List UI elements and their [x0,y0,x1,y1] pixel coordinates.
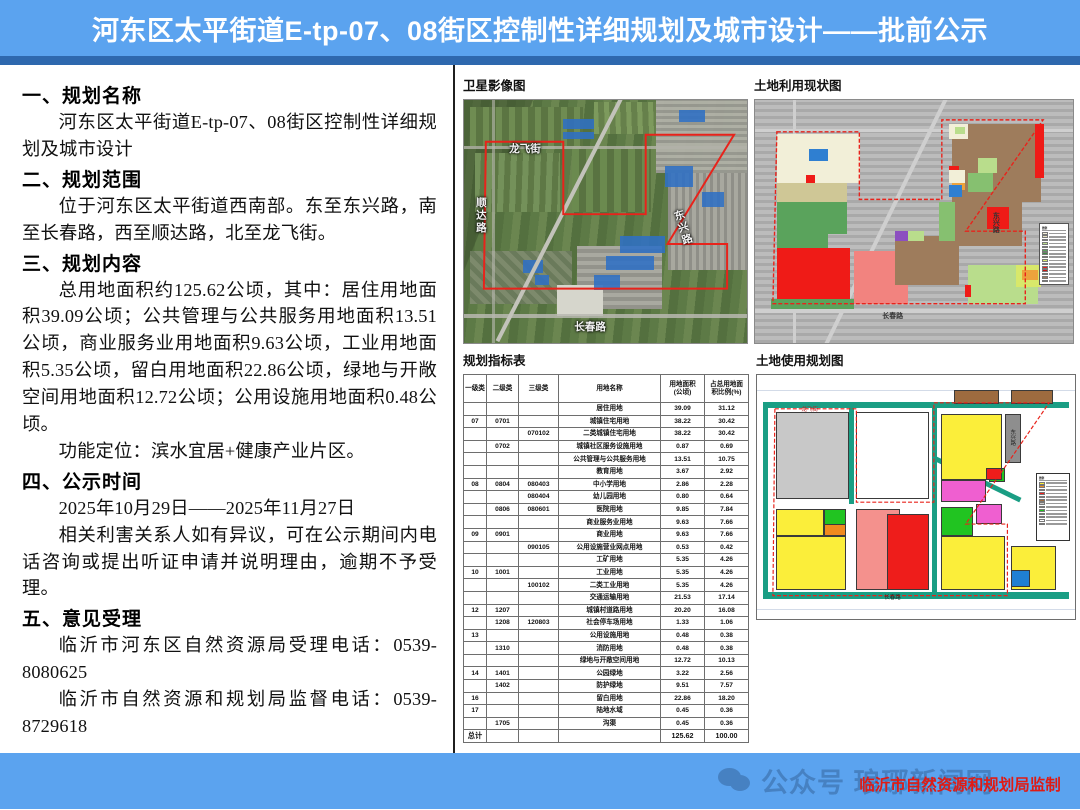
road-label-changchun: 长春路 [884,593,901,601]
cell-landuse-name: 商业用地 [559,528,661,541]
cell-percent: 2.56 [705,667,749,680]
cell-level3 [519,528,559,541]
cell-area: 39.09 [661,403,705,416]
table-row: 141401公园绿地3.222.56 [464,667,749,680]
legend-label [1046,513,1067,515]
cell-level2 [487,453,519,466]
road-label-changchun: 长春路 [882,311,903,321]
legend-label [1049,236,1066,238]
section-body-content: 总用地面积约125.62公顷，其中：居住用地面积39.09公顷；公共管理与公共服… [22,277,437,438]
indicator-table-wrap: 一级类 二级类 三级类 用地名称 用地面积 (公顷) 占总用地面 [463,374,750,743]
cell-level2 [487,491,519,504]
cell-level2 [487,692,519,705]
cell-percent: 4.26 [705,554,749,567]
legend-label [1049,266,1066,268]
legend-label [1046,523,1067,525]
cell-level3: 080404 [519,491,559,504]
legend-swatch [1039,489,1045,492]
table-row: 090901商业用地9.637.66 [464,528,749,541]
table-body: 居住用地39.0931.12070701城镇住宅用地38.2230.420701… [464,403,749,743]
cell-level2: 0702 [487,440,519,453]
legend-label [1046,520,1067,522]
legend-label [1046,510,1067,512]
legend-label [1049,243,1066,245]
legend-swatch [1039,509,1045,512]
cell-area: 0.87 [661,440,705,453]
legend-swatch [1042,273,1048,276]
landuse-legend: 图例 [1039,223,1069,285]
page-title: 河东区太平街道E-tp-07、08街区控制性详细规划及城市设计——批前公示 [92,9,988,48]
legend-swatch [1042,269,1048,272]
road-label-longfei: 龙飞街 [802,405,819,413]
cell-percent: 10.13 [705,654,749,667]
legend-swatch [1042,239,1048,242]
legend-title: 图例 [1039,476,1067,481]
cell-level3: 120803 [519,617,559,630]
cell-level3: 090105 [519,541,559,554]
cell-level2: 1705 [487,717,519,730]
legend-label [1046,506,1067,508]
cell-area: 5.35 [661,554,705,567]
cell-area: 9.85 [661,503,705,516]
cell-percent: 0.36 [705,717,749,730]
cell-percent: 18.20 [705,692,749,705]
cell-landuse-name: 沟渠 [559,717,661,730]
legend-label [1049,277,1066,279]
cell-level1 [464,554,487,567]
col-header-percent-line2: 积比例(%) [711,389,741,396]
indicator-table-panel: 规划指标表 一级类 二级类 三级类 用地名称 用地面积 (公顷) [463,350,750,743]
cell-percent: 0.64 [705,491,749,504]
cell-level1: 13 [464,629,487,642]
legend-label [1049,260,1066,262]
cell-level2: 0804 [487,478,519,491]
legend-label [1049,239,1066,241]
cell-level2: 0701 [487,415,519,428]
section-heading-name: 一、规划名称 [22,81,437,108]
section-heading-scope: 二、规划范围 [22,165,437,192]
road-label-changchun: 长春路 [574,319,606,334]
cell-landuse-name: 居住用地 [559,403,661,416]
cell-percent: 2.28 [705,478,749,491]
cell-area: 20.20 [661,604,705,617]
cell-level3 [519,403,559,416]
cell-landuse-name: 留白用地 [559,692,661,705]
cell-level2: 1207 [487,604,519,617]
cell-landuse-name: 城镇社区服务设施用地 [559,440,661,453]
cell-level3 [519,516,559,529]
legend-swatch [1042,280,1048,283]
cell-area: 22.86 [661,692,705,705]
table-row: 1402防护绿地9.517.57 [464,680,749,693]
cell-level2 [487,541,519,554]
cell-landuse-name: 绿地与开敞空间用地 [559,654,661,667]
table-row: 公共管理与公共服务用地13.5110.75 [464,453,749,466]
cell-percent: 7.84 [705,503,749,516]
cell-level1 [464,440,487,453]
cell-area: 38.22 [661,428,705,441]
cell-percent: 0.36 [705,705,749,718]
legend-swatch [1039,516,1045,519]
cell-level1 [464,717,487,730]
cell-landuse-name: 城镇住宅用地 [559,415,661,428]
table-head: 一级类 二级类 三级类 用地名称 用地面积 (公顷) 占总用地面 [464,375,749,403]
cell-area: 0.53 [661,541,705,554]
section-body-period-notice: 相关利害关系人如有异议，可在公示期间内电话咨询或提出听证申请并说明理由，逾期不予… [22,522,437,603]
legend-label [1046,499,1067,501]
cell-level2 [487,465,519,478]
cell-level3 [519,604,559,617]
legend-label [1049,246,1066,248]
cell-level1 [464,516,487,529]
legend-swatch [1042,259,1048,262]
cell-area: 1.33 [661,617,705,630]
wechat-icon [718,768,752,794]
cell-level3 [519,453,559,466]
cell-level1 [464,491,487,504]
cell-area: 0.45 [661,705,705,718]
cell-level1 [464,541,487,554]
legend-label [1049,263,1066,265]
cell-landuse-name [559,730,661,743]
legend-swatch [1042,242,1048,245]
cell-level1 [464,465,487,478]
cell-area: 3.22 [661,667,705,680]
legend-label [1049,280,1066,282]
cell-level2 [487,629,519,642]
legend-title: 图例 [1042,226,1066,231]
col-header-level2: 二级类 [487,375,519,403]
legend-label [1046,493,1067,495]
cell-landuse-name: 公用设施用地 [559,629,661,642]
cell-area: 0.45 [661,717,705,730]
cell-level3 [519,591,559,604]
legend-swatch [1042,276,1048,279]
cell-level3 [519,566,559,579]
satellite-panel-title: 卫星影像图 [463,75,748,94]
table-row: 1310消防用地0.480.38 [464,642,749,655]
cell-level2 [487,705,519,718]
satellite-image-map[interactable]: 龙飞街 顺达路 东兴路 长春路 [463,99,748,344]
cell-percent: 30.42 [705,415,749,428]
cell-percent: 17.14 [705,591,749,604]
cell-landuse-name: 商业服务业用地 [559,516,661,529]
legend-swatch [1039,519,1045,522]
cell-level2: 1310 [487,642,519,655]
cell-level1: 08 [464,478,487,491]
cell-level3: 080403 [519,478,559,491]
cell-level1: 14 [464,667,487,680]
cell-level1 [464,453,487,466]
cell-level3: 070102 [519,428,559,441]
cell-level1 [464,642,487,655]
cell-landuse-name: 中小学用地 [559,478,661,491]
table-row: 教育用地3.672.92 [464,465,749,478]
cell-landuse-name: 防护绿地 [559,680,661,693]
cell-level3 [519,654,559,667]
indicator-table: 一级类 二级类 三级类 用地名称 用地面积 (公顷) 占总用地面 [463,374,749,743]
table-header-row: 一级类 二级类 三级类 用地名称 用地面积 (公顷) 占总用地面 [464,375,749,403]
cell-level3 [519,554,559,567]
cell-level1: 09 [464,528,487,541]
legend-swatch [1042,266,1048,269]
page-footer: 公众号 琅琊新闻网 临沂市自然资源和规划局监制 [0,753,1080,809]
cell-percent: 4.26 [705,579,749,592]
table-row: 居住用地39.0931.12 [464,403,749,416]
legend-swatch [1039,499,1045,502]
landuse-panel: 土地利用现状图 [754,75,1074,344]
landuse-current-map[interactable]: 图例 [754,99,1074,344]
legend-label [1049,253,1066,255]
col-header-percent: 占总用地面 积比例(%) [705,375,749,403]
plan-map-panel: 土地使用规划图 [756,350,1076,743]
section-body-feedback-phone2: 临沂市自然资源和规划局监督电话：0539-8729618 [22,686,437,740]
chat-bubble-small [730,775,750,791]
cell-level1 [464,403,487,416]
cell-landuse-name: 社会停车场用地 [559,617,661,630]
section-body-positioning: 功能定位：滨水宜居+健康产业片区。 [22,438,437,465]
cell-area: 38.22 [661,415,705,428]
road-label-shunda: 顺达路 [474,197,489,235]
cell-percent: 4.26 [705,566,749,579]
landuse-panel-title: 土地利用现状图 [754,75,1074,94]
cell-level3 [519,680,559,693]
cell-area: 12.72 [661,654,705,667]
cell-level2 [487,591,519,604]
cell-percent: 31.12 [705,403,749,416]
col-header-level1: 一级类 [464,375,487,403]
col-header-area: 用地面积 (公顷) [661,375,705,403]
table-row: 1705沟渠0.450.36 [464,717,749,730]
legend-swatch [1039,496,1045,499]
legend-label [1049,273,1066,275]
plan-legend: 图例 [1036,473,1070,541]
cell-level3 [519,730,559,743]
table-row: 16留白用地22.8618.20 [464,692,749,705]
section-heading-feedback: 五、意见受理 [22,604,437,631]
cell-level2 [487,516,519,529]
cell-area: 0.48 [661,629,705,642]
plan-map-title: 土地使用规划图 [756,350,1076,369]
cell-level1: 12 [464,604,487,617]
cell-landuse-name: 教育用地 [559,465,661,478]
cell-level2: 1208 [487,617,519,630]
cell-landuse-name: 陆地水域 [559,705,661,718]
cell-level2: 0901 [487,528,519,541]
cell-area: 3.67 [661,465,705,478]
cell-level3 [519,629,559,642]
legend-swatch [1042,235,1048,238]
table-row: 090105公用设施营业网点用地0.530.42 [464,541,749,554]
legend-label [1049,256,1066,258]
legend-swatch [1039,523,1045,526]
maps-top-row: 卫星影像图 [463,75,1070,344]
cell-landuse-name: 幼儿园用地 [559,491,661,504]
cell-level2: 1401 [487,667,519,680]
table-row: 交通运输用地21.5317.14 [464,591,749,604]
cell-landuse-name: 城镇村道路用地 [559,604,661,617]
cell-level3: 080601 [519,503,559,516]
section-body-scope: 位于河东区太平街道西南部。东至东兴路，南至长春路，西至顺达路，北至龙飞街。 [22,193,437,247]
cell-area: 9.63 [661,516,705,529]
table-row: 商业服务业用地9.637.66 [464,516,749,529]
cell-level1: 总计 [464,730,487,743]
planning-boundary-outline [464,100,747,343]
cell-level2: 1001 [487,566,519,579]
landuse-planning-map[interactable]: 图例 龙飞街 [756,374,1076,620]
legend-label [1049,233,1066,235]
legend-swatch [1039,492,1045,495]
table-row: 13公用设施用地0.480.38 [464,629,749,642]
legend-swatch [1042,252,1048,255]
cell-level1 [464,591,487,604]
cell-landuse-name: 医院用地 [559,503,661,516]
cell-level2 [487,403,519,416]
legend-label [1046,516,1067,518]
cell-area: 2.86 [661,478,705,491]
cell-level2 [487,654,519,667]
cell-level2: 0806 [487,503,519,516]
cell-level1 [464,579,487,592]
cell-landuse-name: 公用设施营业网点用地 [559,541,661,554]
cell-percent: 10.75 [705,453,749,466]
table-row: 080404幼儿园用地0.800.64 [464,491,749,504]
legend-swatch [1039,506,1045,509]
legend-label [1049,250,1066,252]
table-row: 绿地与开敞空间用地12.7210.13 [464,654,749,667]
cell-percent: 7.66 [705,516,749,529]
legend-swatch [1039,513,1045,516]
legend-item [1042,279,1066,282]
table-row: 17陆地水域0.450.36 [464,705,749,718]
cell-percent: 16.08 [705,604,749,617]
section-body-name: 河东区太平街道E-tp-07、08街区控制性详细规划及城市设计 [22,109,437,163]
cell-landuse-name: 工业用地 [559,566,661,579]
legend-label [1046,503,1067,505]
table-row: 0806080601医院用地9.857.84 [464,503,749,516]
section-heading-content: 三、规划内容 [22,249,437,276]
col-header-landuse-name: 用地名称 [559,375,661,403]
col-header-level3: 三级类 [519,375,559,403]
cell-level1: 10 [464,566,487,579]
legend-swatch [1042,246,1048,249]
page-header: 河东区太平街道E-tp-07、08街区控制性详细规划及城市设计——批前公示 [0,0,1080,56]
cell-area: 9.63 [661,528,705,541]
cell-level1 [464,654,487,667]
cell-percent: 7.57 [705,680,749,693]
col-header-percent-line1: 占总用地面 [710,381,743,388]
cell-level2: 1402 [487,680,519,693]
cell-area: 9.51 [661,680,705,693]
table-row: 070102二类城镇住宅用地38.2230.42 [464,428,749,441]
cell-area: 5.35 [661,579,705,592]
legend-label [1046,489,1067,491]
legend-label [1049,270,1066,272]
legend-label [1046,496,1067,498]
cell-area: 125.62 [661,730,705,743]
cell-level2 [487,554,519,567]
table-row: 0702城镇社区服务设施用地0.870.69 [464,440,749,453]
cell-percent: 2.92 [705,465,749,478]
legend-swatch [1042,256,1048,259]
cell-percent: 0.38 [705,642,749,655]
cell-percent: 30.42 [705,428,749,441]
footer-notice: 临沂市自然资源和规划局监制 [859,773,1061,795]
road-label-dongxing: 东兴路 [1008,429,1016,446]
cell-area: 0.80 [661,491,705,504]
satellite-panel: 卫星影像图 [463,75,748,344]
cell-level1: 07 [464,415,487,428]
cell-level2 [487,428,519,441]
road-label-longfei: 龙飞街 [509,141,541,156]
cell-percent: 7.66 [705,528,749,541]
table-row: 工矿用地5.354.26 [464,554,749,567]
section-body-period-dates: 2025年10月29日——2025年11月27日 [22,495,437,522]
cell-percent: 0.42 [705,541,749,554]
cell-area: 13.51 [661,453,705,466]
cell-percent: 0.38 [705,629,749,642]
header-accent-bar [0,56,1080,65]
cell-level3 [519,692,559,705]
cell-landuse-name: 二类工业用地 [559,579,661,592]
indicator-table-title: 规划指标表 [463,350,750,369]
cell-level3 [519,465,559,478]
cell-landuse-name: 工矿用地 [559,554,661,567]
cell-landuse-name: 二类城镇住宅用地 [559,428,661,441]
section-heading-period: 四、公示时间 [22,467,437,494]
table-row: 121207城镇村道路用地20.2016.08 [464,604,749,617]
legend-swatch [1042,232,1048,235]
cell-level3 [519,642,559,655]
cell-percent: 1.06 [705,617,749,630]
cell-percent: 100.00 [705,730,749,743]
cell-level3: 100102 [519,579,559,592]
road-label-dongxing: 东兴路 [990,212,1000,233]
legend-label [1046,482,1067,484]
legend-swatch [1042,249,1048,252]
cell-level1: 16 [464,692,487,705]
section-body-feedback-phone1: 临沂市河东区自然资源局受理电话：0539-8080625 [22,632,437,686]
cell-area: 5.35 [661,566,705,579]
cell-level2 [487,730,519,743]
maps-column: 卫星影像图 [455,65,1078,753]
cell-area: 21.53 [661,591,705,604]
maps-bottom-row: 规划指标表 一级类 二级类 三级类 用地名称 用地面积 (公顷) [463,350,1070,743]
cell-landuse-name: 交通运输用地 [559,591,661,604]
table-row: 080804080403中小学用地2.862.28 [464,478,749,491]
table-row: 101001工业用地5.354.26 [464,566,749,579]
cell-level1 [464,503,487,516]
cell-level3 [519,415,559,428]
cell-level1 [464,617,487,630]
legend-item [1039,522,1067,525]
table-row: 070701城镇住宅用地38.2230.42 [464,415,749,428]
col-header-area-line1: 用地面积 [669,381,695,388]
legend-swatch [1039,485,1045,488]
cell-level3 [519,440,559,453]
cell-level2 [487,579,519,592]
legend-swatch [1042,263,1048,266]
cell-level3 [519,717,559,730]
cell-level3 [519,667,559,680]
cell-level1 [464,680,487,693]
legend-swatch [1039,502,1045,505]
main-content: 一、规划名称 河东区太平街道E-tp-07、08街区控制性详细规划及城市设计 二… [0,65,1080,753]
cell-level1 [464,428,487,441]
table-row: 1208120803社会停车场用地1.331.06 [464,617,749,630]
cell-level3 [519,705,559,718]
cell-landuse-name: 公共管理与公共服务用地 [559,453,661,466]
